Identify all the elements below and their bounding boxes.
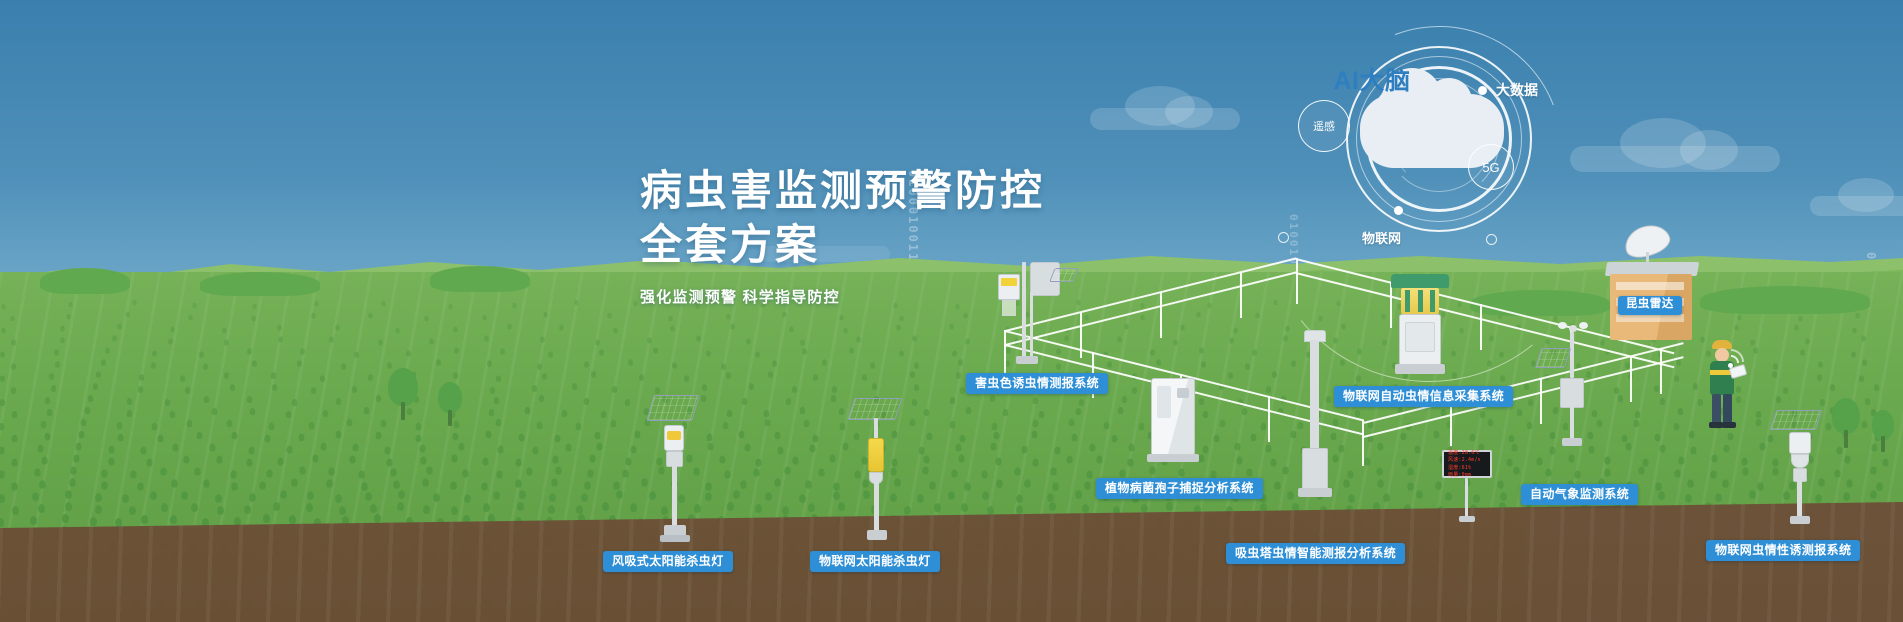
pole-footing — [660, 535, 690, 542]
node-5g[interactable]: 5G — [1468, 144, 1514, 190]
page-title: 病虫害监测预警防控 全套方案 — [640, 164, 1045, 272]
node-iot-dot — [1394, 206, 1403, 215]
weather-solar-panel — [1535, 348, 1571, 368]
device-pest-color-lure-forecast-system[interactable] — [990, 262, 1070, 372]
weather-base — [1562, 438, 1582, 446]
wifi-signal-icon — [1718, 348, 1744, 368]
ladder-mast-2 — [1030, 292, 1033, 358]
cabinet-vent — [1157, 386, 1171, 418]
cloud-decoration — [1165, 96, 1213, 128]
label-pest-color-lure-forecast-system[interactable]: 害虫色诱虫情测报系统 — [966, 373, 1108, 394]
cloud-decoration — [1680, 130, 1738, 170]
solar-panel — [847, 398, 902, 420]
label-iot-pest-pheromone-lure-forecast-system[interactable]: 物联网虫情性诱测报系统 — [1706, 540, 1860, 561]
page-title-line2: 全套方案 — [640, 221, 820, 268]
mast-base — [1016, 356, 1038, 364]
device-insect-radar[interactable] — [1598, 236, 1706, 348]
worker-leg-right — [1723, 394, 1732, 424]
tower-control-box — [1302, 448, 1328, 490]
bush-decoration — [40, 268, 130, 294]
weather-pole — [1570, 406, 1574, 440]
label-insect-radar[interactable]: 昆虫雷达 — [1618, 296, 1682, 315]
canopy-roof — [1391, 274, 1449, 288]
label-plant-pathogen-spore-capture-analysis-system[interactable]: 植物病菌孢子捕捉分析系统 — [1096, 478, 1263, 499]
label-iot-solar-insect-lamp[interactable]: 物联网太阳能杀虫灯 — [810, 551, 940, 572]
worker-boot-left — [1709, 422, 1723, 428]
label-wind-suction-solar-insect-lamp[interactable]: 风吸式太阳能杀虫灯 — [603, 551, 733, 572]
tree-decoration — [438, 382, 462, 426]
bush-decoration — [1700, 286, 1870, 314]
label-suction-tower-intelligent-forecast-analysis-system[interactable]: 吸虫塔虫情智能测报分析系统 — [1226, 543, 1405, 564]
orbit-endpoint-right — [1486, 234, 1497, 245]
tree-decoration — [1872, 410, 1894, 452]
node-big-data-label: 大数据 — [1496, 80, 1538, 100]
lamp-tube — [868, 438, 884, 472]
pheromone-trap-head — [1789, 432, 1811, 454]
solar-panel — [646, 395, 699, 421]
tower-base — [1298, 488, 1332, 497]
led-line-1: 温度:28.6℃ — [1448, 450, 1486, 456]
tower-column — [1310, 340, 1319, 450]
anemometer-cups — [1558, 322, 1588, 332]
bush-decoration — [430, 266, 530, 292]
cabinet-inlet — [1177, 388, 1189, 398]
device-plant-pathogen-spore-capture-analysis-system[interactable] — [1147, 378, 1203, 474]
device-suction-tower-intelligent-forecast-analysis-system[interactable] — [1290, 330, 1340, 530]
page-subtitle: 强化监测预警 科学指导防控 — [640, 286, 1045, 307]
lure-color-strip — [1001, 278, 1017, 286]
label-automatic-weather-monitoring-system[interactable]: 自动气象监测系统 — [1521, 484, 1638, 505]
cloud-decoration — [1838, 178, 1894, 212]
radar-window-row-1 — [1616, 282, 1684, 290]
led-display-base — [1459, 516, 1475, 522]
trap-net — [1002, 300, 1016, 316]
solar-panel — [1770, 410, 1822, 430]
page-title-block: 病虫害监测预警防控 全套方案 强化监测预警 科学指导防控 — [640, 164, 1045, 307]
support-pole — [1797, 480, 1802, 518]
led-weather-display: 温度:28.6℃ 风速:2.4m/s 湿度:61% 雨量:0mm — [1442, 450, 1492, 478]
ladder-mast — [1022, 262, 1026, 358]
bush-decoration — [200, 272, 320, 296]
device-iot-automatic-pest-info-collection-system[interactable] — [1385, 274, 1455, 394]
collector-door — [1405, 322, 1435, 352]
lamp-bar-1 — [1405, 290, 1410, 312]
led-line-3: 湿度:61% — [1448, 465, 1486, 471]
cabinet-base — [1147, 454, 1199, 462]
ai-brain-cluster: AI大脑 遥感 大数据 5G 物联网 — [1300, 42, 1630, 257]
pole-base — [1790, 516, 1810, 524]
device-iot-pest-pheromone-lure-forecast-system[interactable] — [1765, 410, 1839, 535]
lamp-bar-3 — [1430, 290, 1435, 312]
lamp-glow — [667, 431, 681, 440]
radar-window-row-3 — [1616, 314, 1684, 322]
device-wind-suction-solar-insect-lamp[interactable] — [640, 395, 712, 550]
support-pole — [672, 465, 677, 527]
led-line-2: 风速:2.4m/s — [1448, 457, 1486, 463]
worker-leg-left — [1712, 394, 1721, 424]
node-remote-sensing-label: 遥感 — [1313, 118, 1335, 134]
infographic-canvas: 0100010011010010 010010110100 0101011101… — [0, 0, 1903, 622]
node-5g-label: 5G — [1482, 160, 1499, 175]
tree-decoration — [388, 368, 418, 420]
device-iot-solar-insect-lamp[interactable] — [845, 398, 913, 548]
node-big-data-dot — [1478, 86, 1487, 95]
page-title-line1: 病虫害监测预警防控 — [640, 167, 1045, 214]
node-iot-label: 物联网 — [1362, 228, 1401, 247]
support-pole — [874, 482, 879, 532]
ai-brain-label: AI大脑 — [1300, 42, 1444, 116]
pheromone-funnel — [1791, 454, 1809, 468]
collector-base — [1395, 364, 1445, 374]
led-display-pole — [1465, 478, 1468, 518]
lamp-bar-2 — [1418, 290, 1423, 312]
sensor-mast — [1570, 332, 1574, 378]
worker-boot-right — [1722, 422, 1736, 428]
label-iot-automatic-pest-info-collection-system[interactable]: 物联网自动虫情信息采集系统 — [1334, 386, 1513, 407]
orbit-endpoint-left — [1278, 232, 1289, 243]
weather-data-box — [1560, 378, 1584, 408]
upper-mast — [874, 418, 878, 440]
pole-base — [867, 530, 887, 540]
